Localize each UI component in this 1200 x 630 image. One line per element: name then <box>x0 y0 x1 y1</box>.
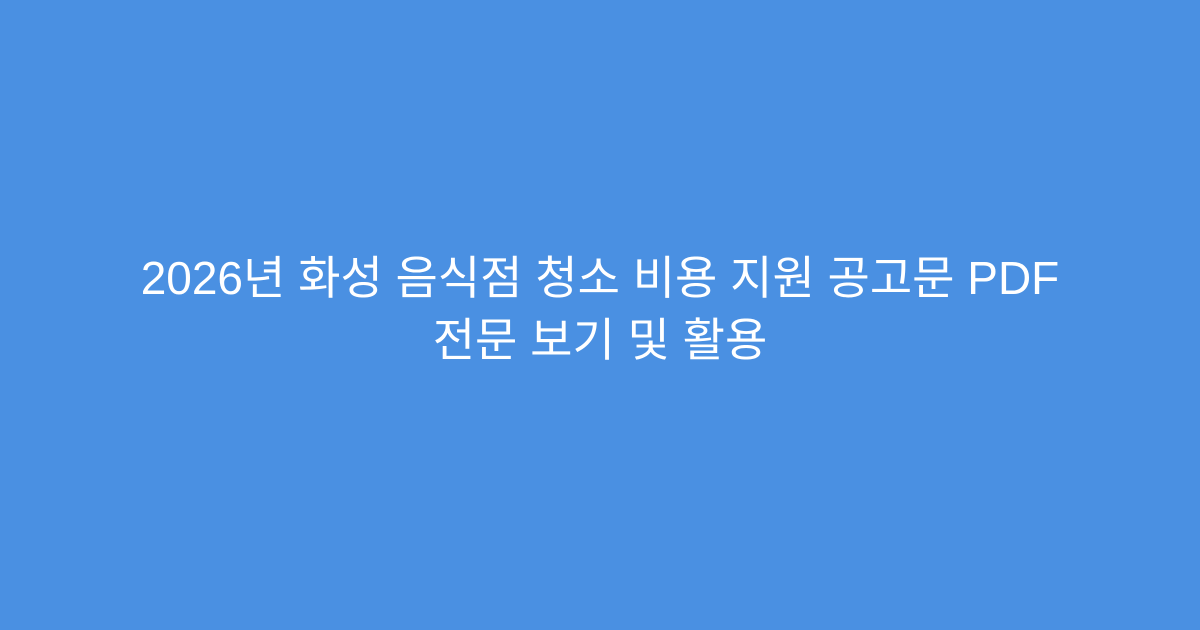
page-title: 2026년 화성 음식점 청소 비용 지원 공고문 PDF 전문 보기 및 활용 <box>70 247 1130 371</box>
thumbnail-card: 2026년 화성 음식점 청소 비용 지원 공고문 PDF 전문 보기 및 활용 <box>0 0 1200 630</box>
page-title-line-1: 2026년 화성 음식점 청소 비용 지원 공고문 PDF <box>70 247 1130 309</box>
page-title-line-2: 전문 보기 및 활용 <box>70 309 1130 371</box>
